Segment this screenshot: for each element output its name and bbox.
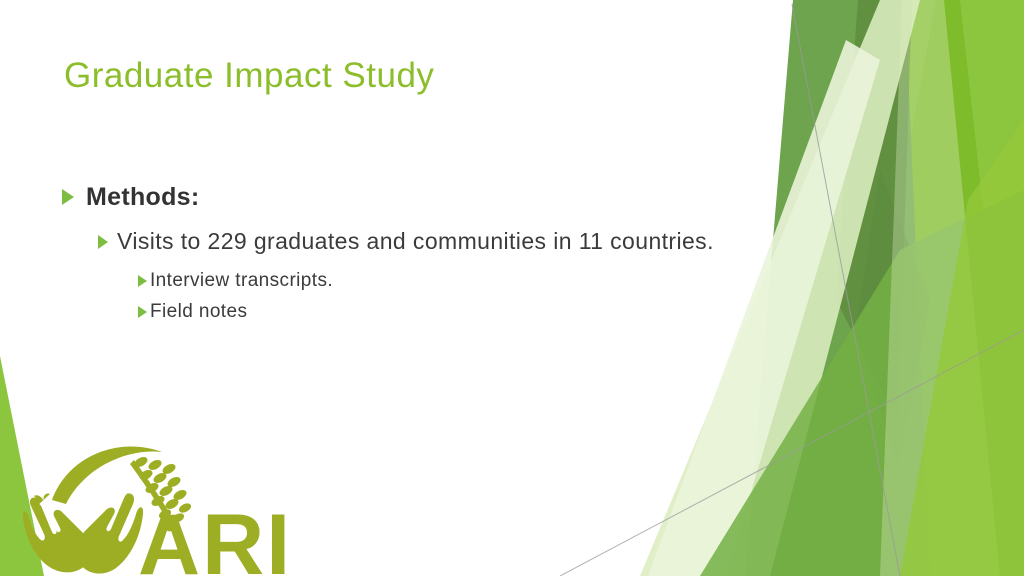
polygon-right-base [830, 0, 1024, 576]
polygon-bright-band [800, 0, 1024, 576]
list-item-label: Interview transcripts. [150, 269, 333, 294]
cupped-hand-right-icon [76, 493, 143, 573]
polygon-pale-overlay [880, 0, 1000, 576]
list-item: Methods: [62, 182, 742, 213]
triangle-bullet-icon [138, 275, 147, 287]
triangle-bullet-icon [138, 306, 147, 318]
polygon-mid-green-diagonal [700, 190, 1024, 576]
list-item: Interview transcripts. [138, 269, 742, 294]
list-item-label: Visits to 229 graduates and communities … [117, 227, 714, 256]
ari-logo: ARI [22, 432, 292, 576]
slide: Graduate Impact Study Methods: Visits to… [0, 0, 1024, 576]
triangle-bullet-icon [98, 235, 108, 249]
polygon-olive-spike [856, 170, 930, 470]
triangle-bullet-icon [62, 189, 74, 205]
polygon-bright-lower-right [900, 120, 1024, 576]
list-item: Visits to 229 graduates and communities … [98, 227, 742, 256]
list-item-label: Methods: [86, 182, 200, 213]
polygon-sage-large [745, 0, 930, 576]
hairline-upper [792, 4, 900, 576]
page-title: Graduate Impact Study [64, 56, 434, 96]
ari-wordmark: ARI [138, 497, 292, 576]
polygon-olive-dark [836, 0, 912, 420]
hairline-diagonal [560, 330, 1024, 576]
content-body: Methods: Visits to 229 graduates and com… [62, 182, 742, 332]
list-item: Field notes [138, 300, 742, 325]
list-item-label: Field notes [150, 300, 247, 325]
